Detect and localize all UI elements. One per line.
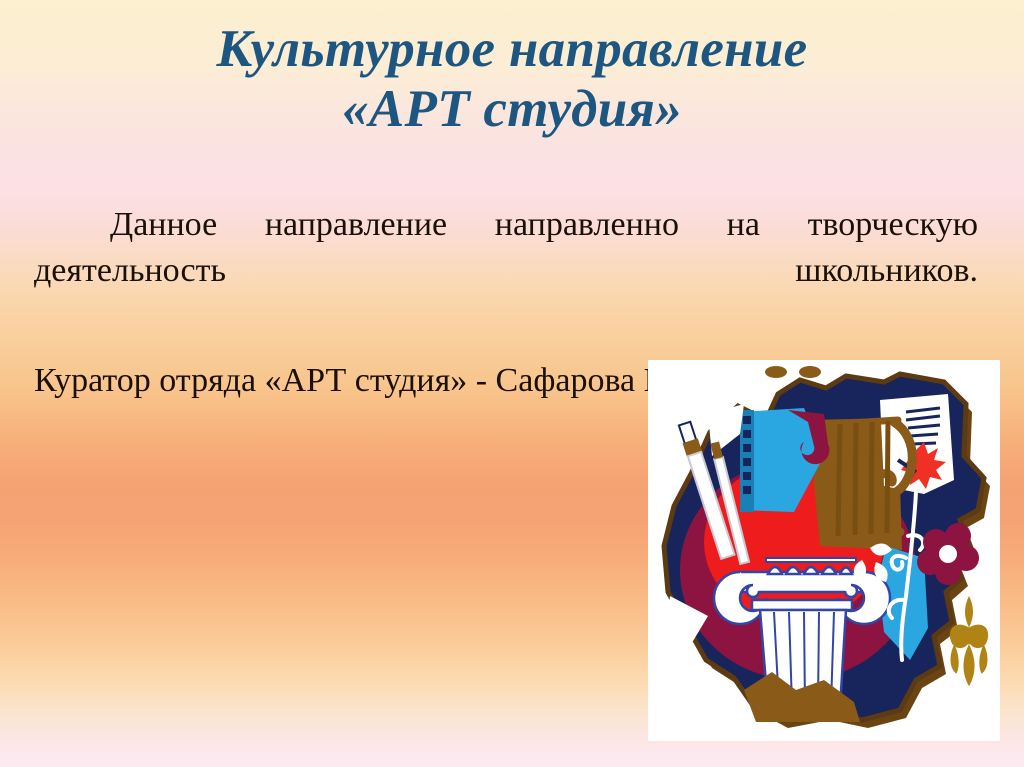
art-collage-icon: [648, 360, 1000, 741]
art-collage-image: [648, 360, 1000, 741]
body-paragraph-description: Данное направление направленно на творче…: [34, 202, 978, 340]
slide-canvas: Культурное направление «АРТ студия» Данн…: [0, 0, 1024, 767]
title-line-primary: Культурное направление: [0, 22, 1024, 76]
slide-title: Культурное направление «АРТ студия»: [0, 22, 1024, 136]
title-line-secondary: «АРТ студия»: [0, 82, 1024, 136]
